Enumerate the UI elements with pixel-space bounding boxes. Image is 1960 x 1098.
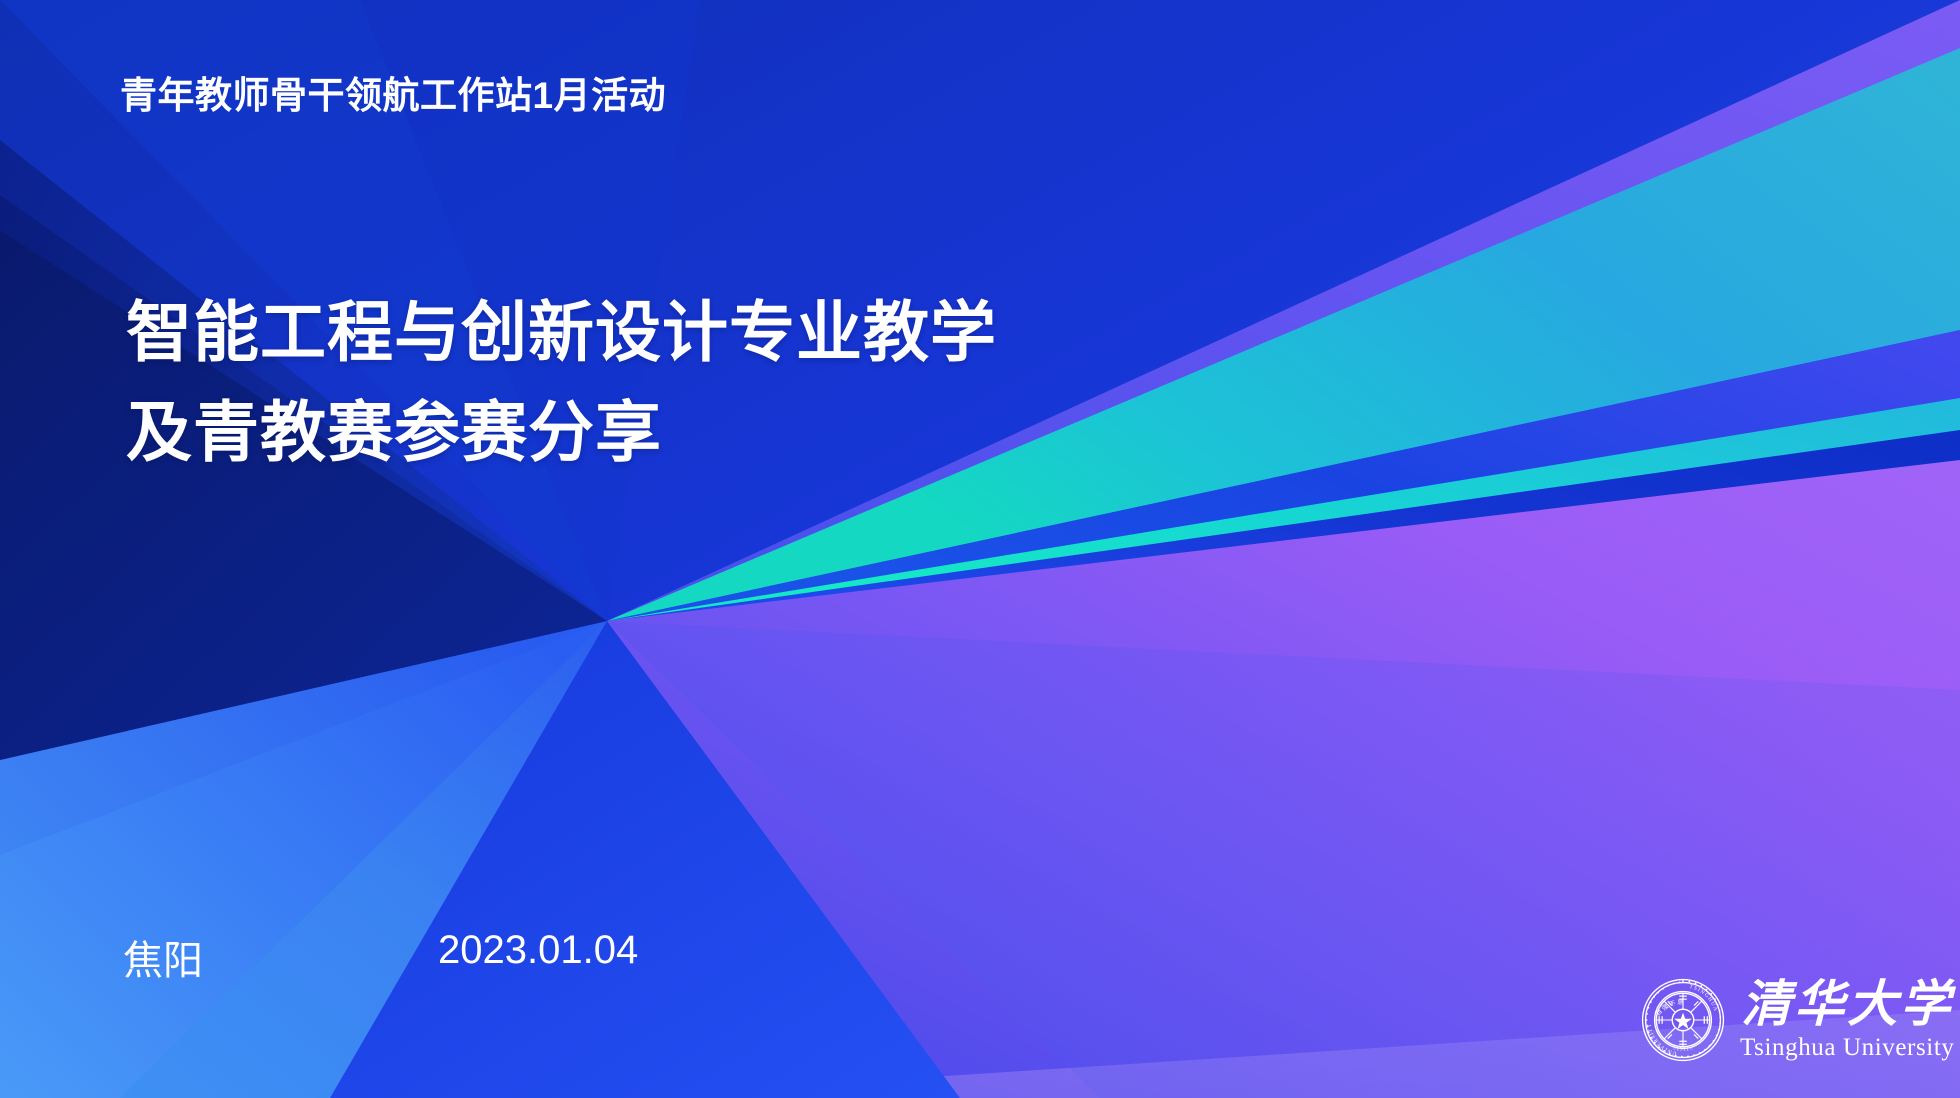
title-line-1: 智能工程与创新设计专业教学 [126, 282, 997, 382]
presentation-date: 2023.01.04 [438, 928, 638, 973]
logo-english-name: Tsinghua University [1740, 1032, 1955, 1063]
slide-subtitle: 青年教师骨干领航工作站1月活动 [120, 74, 666, 118]
title-line-2: 及青教赛参赛分享 [126, 382, 997, 482]
logo-wordmark: 清华大学 Tsinghua University [1740, 977, 1955, 1063]
presenter-name: 焦阳 [123, 928, 203, 986]
svg-text:~1911~: ~1911~ [1673, 1047, 1693, 1053]
page-title: 智能工程与创新设计专业教学 及青教赛参赛分享 [126, 282, 997, 483]
logo-chinese-name: 清华大学 [1741, 979, 1953, 1029]
tsinghua-university-logo: TSINGHUA UNIVERSITY 自强不息 ~1911~ [1640, 968, 1930, 1072]
slide-content: 青年教师骨干领航工作站1月活动 智能工程与创新设计专业教学 及青教赛参赛分享 焦… [0, 0, 1960, 1098]
svg-text:自强不息: 自强不息 [1654, 998, 1685, 1018]
tsinghua-seal-icon: TSINGHUA UNIVERSITY 自强不息 ~1911~ [1640, 977, 1726, 1063]
title-slide: 青年教师骨干领航工作站1月活动 智能工程与创新设计专业教学 及青教赛参赛分享 焦… [0, 0, 1960, 1098]
